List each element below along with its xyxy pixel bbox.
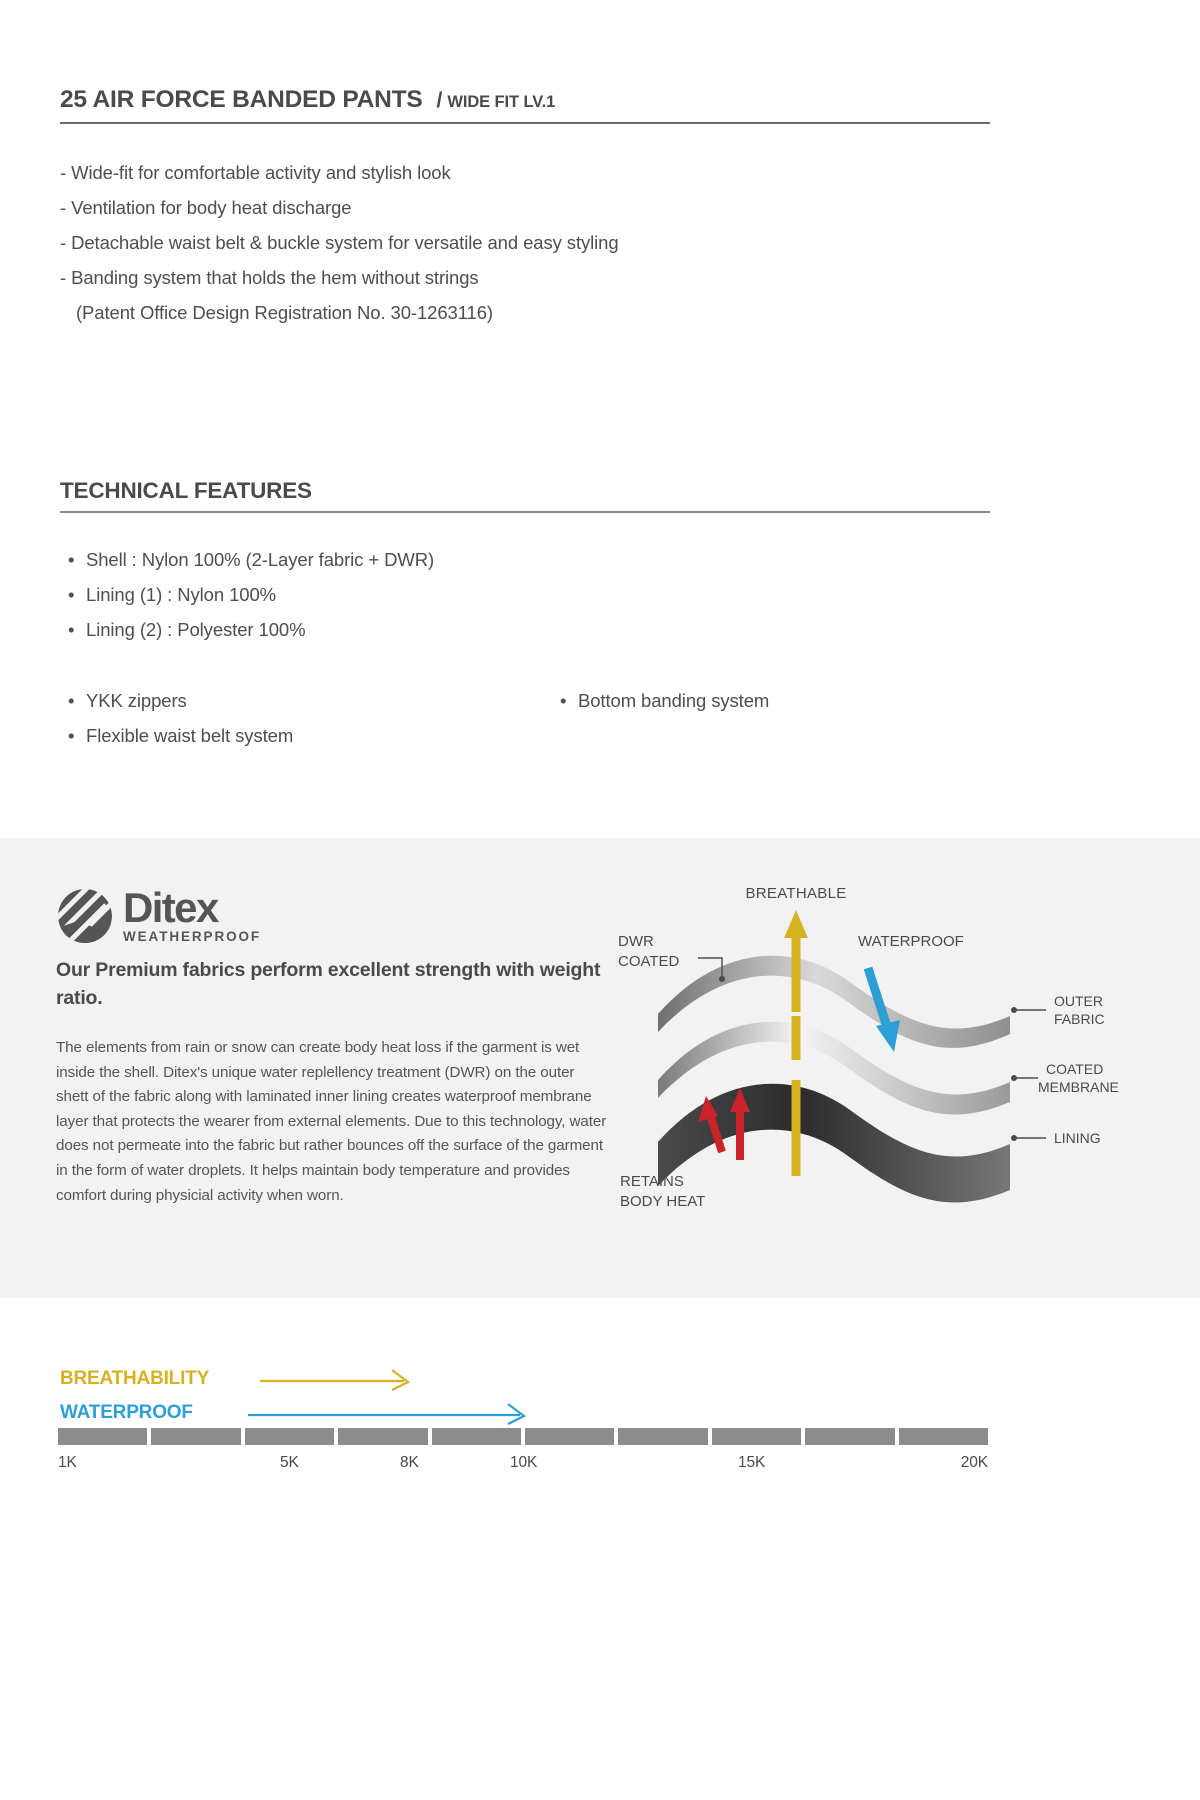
svg-text:COATED: COATED bbox=[618, 953, 680, 970]
list-item: •Bottom banding system bbox=[560, 683, 769, 718]
scale-tick: 1K bbox=[58, 1454, 77, 1472]
scale-tick: 15K bbox=[738, 1454, 765, 1472]
feature-text: YKK zippers bbox=[86, 690, 187, 711]
bullet-icon: • bbox=[68, 718, 86, 753]
ditex-headline: Our Premium fabrics perform excellent st… bbox=[56, 956, 601, 1012]
svg-text:COATED: COATED bbox=[1046, 1061, 1103, 1077]
list-item: •Shell : Nylon 100% (2-Layer fabric + DW… bbox=[68, 542, 1140, 577]
performance-scale-section: BREATHABILITY WATERPROOF bbox=[0, 1298, 1200, 1402]
list-item: - Banding system that holds the hem with… bbox=[60, 260, 1140, 295]
feature-text: Bottom banding system bbox=[578, 690, 769, 711]
bullet-icon: • bbox=[68, 612, 86, 647]
list-item: •Lining (2) : Polyester 100% bbox=[68, 612, 1140, 647]
list-item: - Wide-fit for comfortable activity and … bbox=[60, 155, 1140, 190]
list-item: - Detachable waist belt & buckle system … bbox=[60, 225, 1140, 260]
svg-text:FABRIC: FABRIC bbox=[1054, 1011, 1105, 1027]
bullet-icon: • bbox=[68, 683, 86, 718]
spec-text: Lining (1) : Nylon 100% bbox=[86, 584, 276, 605]
product-overview-section: 25 AIR FORCE BANDED PANTS / WIDE FIT LV.… bbox=[0, 0, 1200, 763]
ditex-logo-mark-icon bbox=[58, 889, 112, 943]
page-title: 25 AIR FORCE BANDED PANTS / WIDE FIT LV.… bbox=[60, 0, 990, 124]
ditex-description: The elements from rain or snow can creat… bbox=[56, 1036, 608, 1208]
technical-features-heading: TECHNICAL FEATURES bbox=[60, 478, 990, 513]
scale-segment bbox=[525, 1428, 614, 1445]
diagram-label-waterproof: WATERPROOF bbox=[858, 933, 964, 950]
spec-text: Lining (2) : Polyester 100% bbox=[86, 619, 305, 640]
scale-tick: 5K bbox=[280, 1454, 299, 1472]
product-title: 25 AIR FORCE BANDED PANTS bbox=[60, 86, 423, 114]
diagram-label-coated-membrane: COATED MEMBRANE bbox=[1011, 1061, 1119, 1095]
list-item: •YKK zippers bbox=[68, 683, 293, 718]
diagram-label-lining: LINING bbox=[1011, 1130, 1101, 1146]
scale-segment bbox=[805, 1428, 894, 1445]
svg-text:LINING: LINING bbox=[1054, 1130, 1101, 1146]
scale-segment bbox=[58, 1428, 147, 1445]
svg-text:RETAINS: RETAINS bbox=[620, 1173, 684, 1190]
feature-columns: •YKK zippers •Flexible waist belt system… bbox=[60, 683, 1140, 763]
svg-text:DWR: DWR bbox=[618, 933, 654, 950]
scale-tick: 8K bbox=[400, 1454, 419, 1472]
scale-segment bbox=[338, 1428, 427, 1445]
scale-segment bbox=[151, 1428, 240, 1445]
feature-column-right: •Bottom banding system bbox=[560, 683, 769, 718]
breathability-arrow-icon bbox=[260, 1370, 408, 1390]
layer-outer-fabric bbox=[658, 956, 1010, 1048]
bullet-icon: • bbox=[68, 577, 86, 612]
list-item: •Lining (1) : Nylon 100% bbox=[68, 577, 1140, 612]
list-item: •Flexible waist belt system bbox=[68, 718, 293, 753]
material-spec-list: •Shell : Nylon 100% (2-Layer fabric + DW… bbox=[60, 542, 1140, 647]
scale-bar-wrapper: 1K 5K 8K 10K 15K 20K bbox=[58, 1428, 988, 1484]
list-item-patent-note: (Patent Office Design Registration No. 3… bbox=[60, 295, 1140, 330]
diagram-label-breathable: BREATHABLE bbox=[745, 885, 846, 902]
svg-text:OUTER: OUTER bbox=[1054, 993, 1103, 1009]
diagram-label-outer-fabric: OUTER FABRIC bbox=[1011, 993, 1105, 1027]
ditex-logo: Ditex WEATHERPROOF bbox=[58, 888, 261, 944]
feature-bullet-list: - Wide-fit for comfortable activity and … bbox=[60, 155, 1140, 330]
feature-column-left: •YKK zippers •Flexible waist belt system bbox=[68, 683, 293, 753]
scale-tick-labels: 1K 5K 8K 10K 15K 20K bbox=[58, 1454, 988, 1484]
ditex-brand-panel: Ditex WEATHERPROOF Our Premium fabrics p… bbox=[0, 838, 1200, 1298]
waterproof-arrow-icon bbox=[248, 1404, 524, 1424]
fabric-membrane-diagram: BREATHABLE DWR COATED WATERPROOF bbox=[610, 884, 1170, 1284]
scale-tick: 20K bbox=[961, 1454, 988, 1472]
product-subtitle: WIDE FIT LV.1 bbox=[447, 93, 555, 112]
scale-segment bbox=[712, 1428, 801, 1445]
scale-bar bbox=[58, 1428, 988, 1445]
ditex-logo-tagline: WEATHERPROOF bbox=[123, 929, 261, 944]
feature-text: Flexible waist belt system bbox=[86, 725, 293, 746]
scale-segment bbox=[432, 1428, 521, 1445]
spec-text: Shell : Nylon 100% (2-Layer fabric + DWR… bbox=[86, 549, 434, 570]
product-spec-page: 25 AIR FORCE BANDED PANTS / WIDE FIT LV.… bbox=[0, 0, 1200, 1800]
ditex-logo-wordmark: Ditex bbox=[123, 888, 261, 928]
svg-text:MEMBRANE: MEMBRANE bbox=[1038, 1079, 1119, 1095]
scale-segment bbox=[618, 1428, 707, 1445]
title-separator: / bbox=[437, 89, 443, 113]
bullet-icon: • bbox=[68, 542, 86, 577]
section-title: TECHNICAL FEATURES bbox=[60, 478, 990, 504]
scale-segment bbox=[245, 1428, 334, 1445]
scale-segment bbox=[899, 1428, 988, 1445]
bullet-icon: • bbox=[560, 683, 578, 718]
diagram-label-retains-body-heat: RETAINS BODY HEAT bbox=[620, 1173, 705, 1210]
svg-text:BODY HEAT: BODY HEAT bbox=[620, 1193, 705, 1210]
scale-tick: 10K bbox=[510, 1454, 537, 1472]
list-item: - Ventilation for body heat discharge bbox=[60, 190, 1140, 225]
